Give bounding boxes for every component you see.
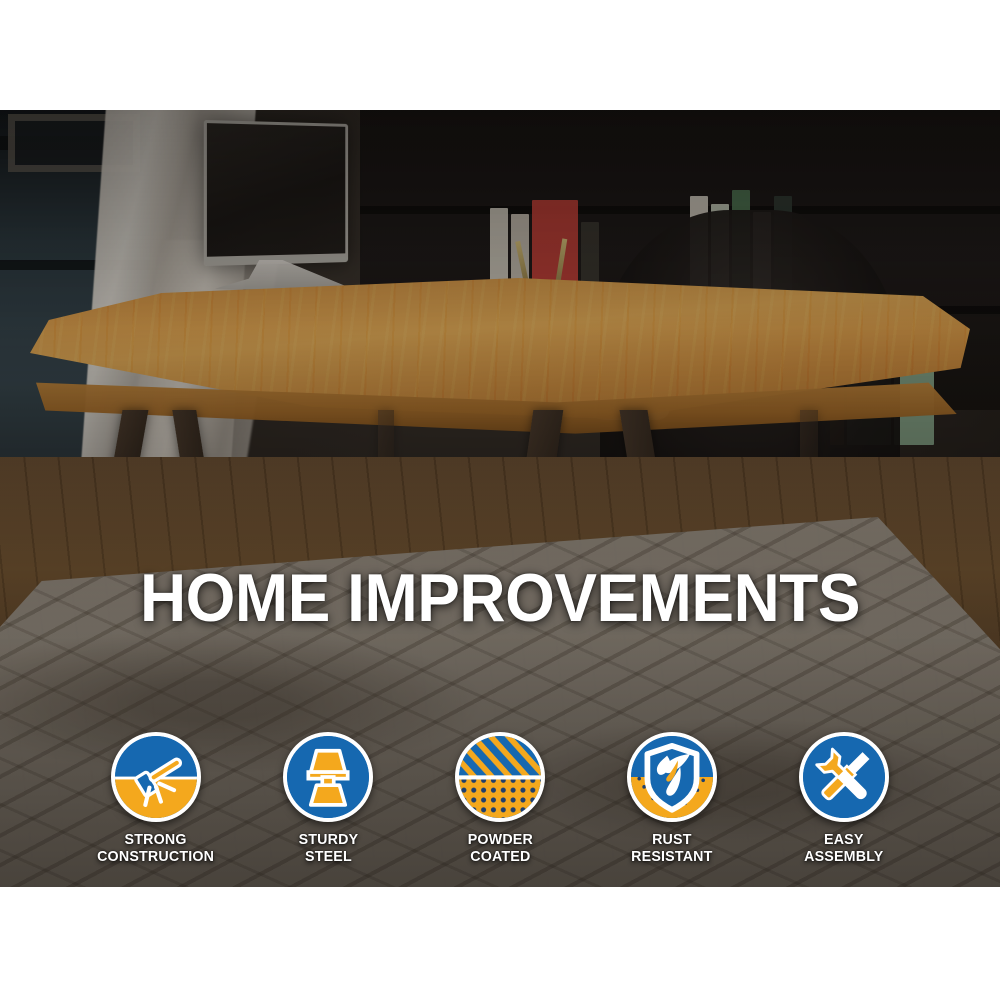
feature-powder-coated: POWDER COATED — [440, 732, 560, 865]
powder-coating-texture-icon — [455, 732, 545, 822]
feature-label: POWDER COATED — [467, 831, 532, 865]
product-photo: HOME IMPROVEMENTS — [0, 110, 1000, 887]
page-title: HOME IMPROVEMENTS — [30, 562, 970, 634]
feature-badge-row: STRONG CONSTRUCTION STURDY STEEL — [0, 732, 1000, 865]
screwdriver-wrench-icon — [799, 732, 889, 822]
feature-rust-resistant: RUST RESISTANT — [612, 732, 732, 865]
book-group-left — [490, 110, 599, 300]
shelf-board-1 — [360, 206, 1000, 214]
product-banner: HOME IMPROVEMENTS — [0, 0, 1000, 1000]
steel-beam-icon — [283, 732, 373, 822]
hammer-chisel-icon — [111, 732, 201, 822]
feature-label: STURDY STEEL — [298, 831, 358, 865]
feature-label: STRONG CONSTRUCTION — [97, 831, 214, 865]
feature-label: RUST RESISTANT — [631, 831, 712, 865]
imac-computer — [204, 120, 348, 266]
feature-label: EASY ASSEMBLY — [804, 831, 883, 865]
feature-sturdy-steel: STURDY STEEL — [268, 732, 388, 865]
feature-easy-assembly: EASY ASSEMBLY — [784, 732, 904, 865]
shield-water-droplets-icon — [627, 732, 717, 822]
feature-strong-construction: STRONG CONSTRUCTION — [96, 732, 216, 865]
